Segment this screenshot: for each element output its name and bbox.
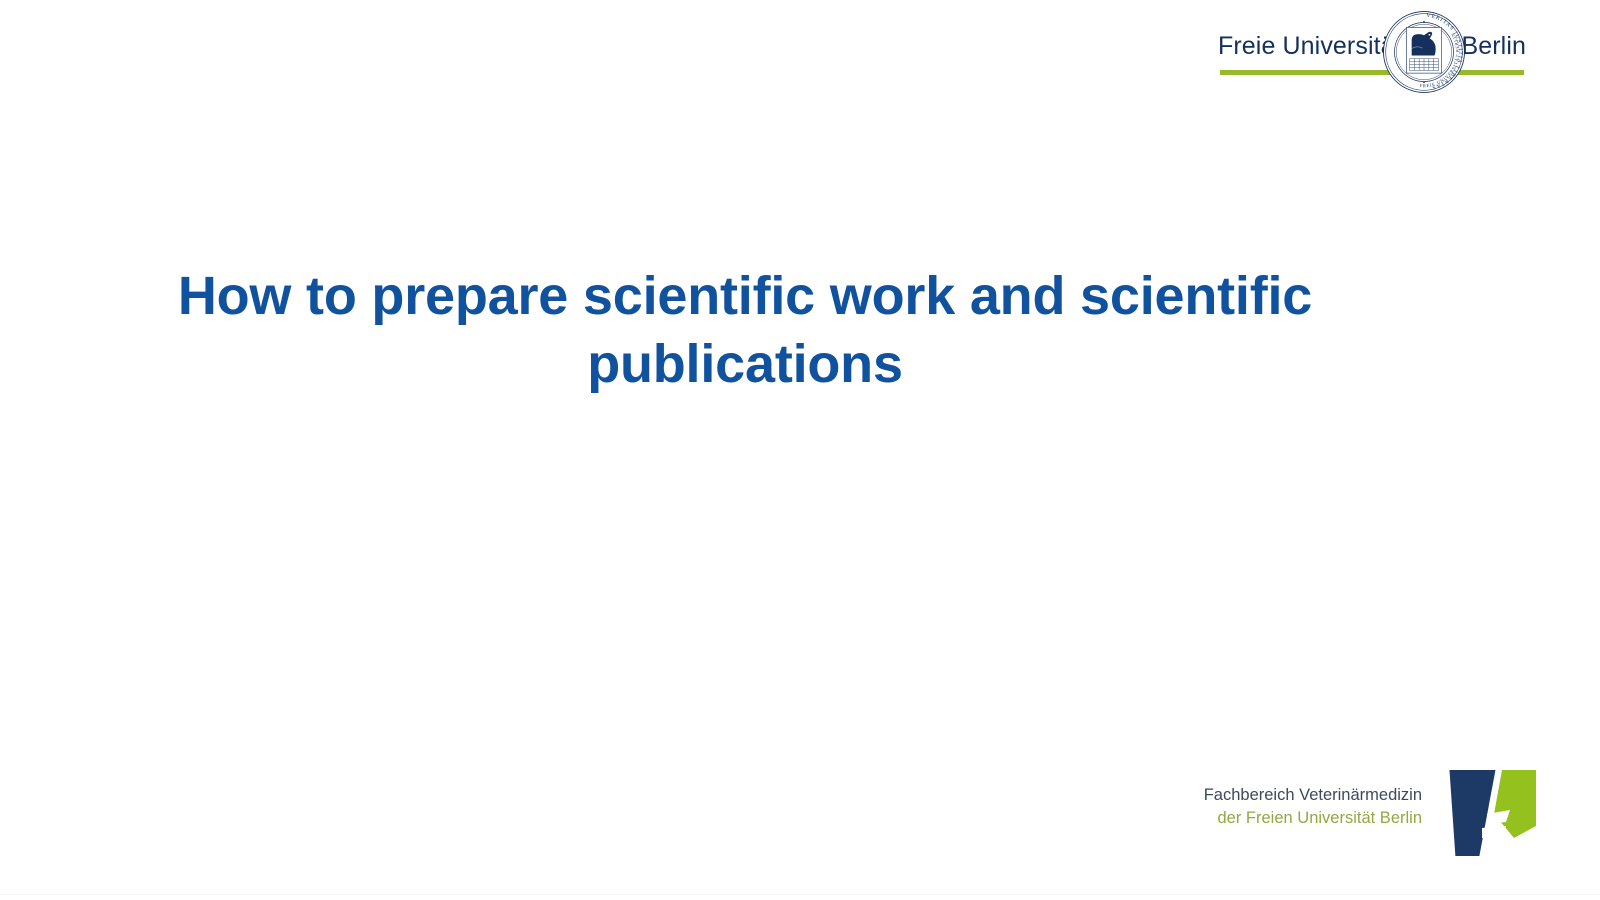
vetmed-footer-logo: Fachbereich Veterinärmedizin der Freien … xyxy=(1180,752,1530,868)
footer-line-fachbereich: Fachbereich Veterinärmedizin xyxy=(1204,784,1422,807)
brand-word-freie-universitaet: Freie Universität xyxy=(1218,34,1402,59)
brand-word-berlin: Berlin xyxy=(1461,34,1526,59)
slide-canvas: Freie Universität Berlin VERITAS IUSTITI… xyxy=(0,0,1600,900)
slide-title-line-2: publications xyxy=(587,334,903,394)
fu-berlin-seal-icon: VERITAS IUSTITIA LIBERTAS FREIE UNIVERSI… xyxy=(1380,8,1468,96)
brand-wordmark: Freie Universität Berlin xyxy=(1214,18,1528,74)
brand-green-rule xyxy=(1220,70,1524,75)
footer-line-der-freien-universitaet-berlin: der Freien Universität Berlin xyxy=(1204,807,1422,830)
slide-title-block: How to prepare scientific work and scien… xyxy=(140,262,1350,398)
slide-title: How to prepare scientific work and scien… xyxy=(140,262,1350,398)
vetmed-footer-wordmark: Fachbereich Veterinärmedizin der Freien … xyxy=(1204,784,1422,831)
bottom-hairline xyxy=(0,894,1600,895)
fu-berlin-brand-logo: Freie Universität Berlin VERITAS IUSTITI… xyxy=(1214,18,1528,102)
vetmed-v-mark-icon xyxy=(1424,752,1536,864)
slide-title-line-1: How to prepare scientific work and scien… xyxy=(178,266,1312,326)
